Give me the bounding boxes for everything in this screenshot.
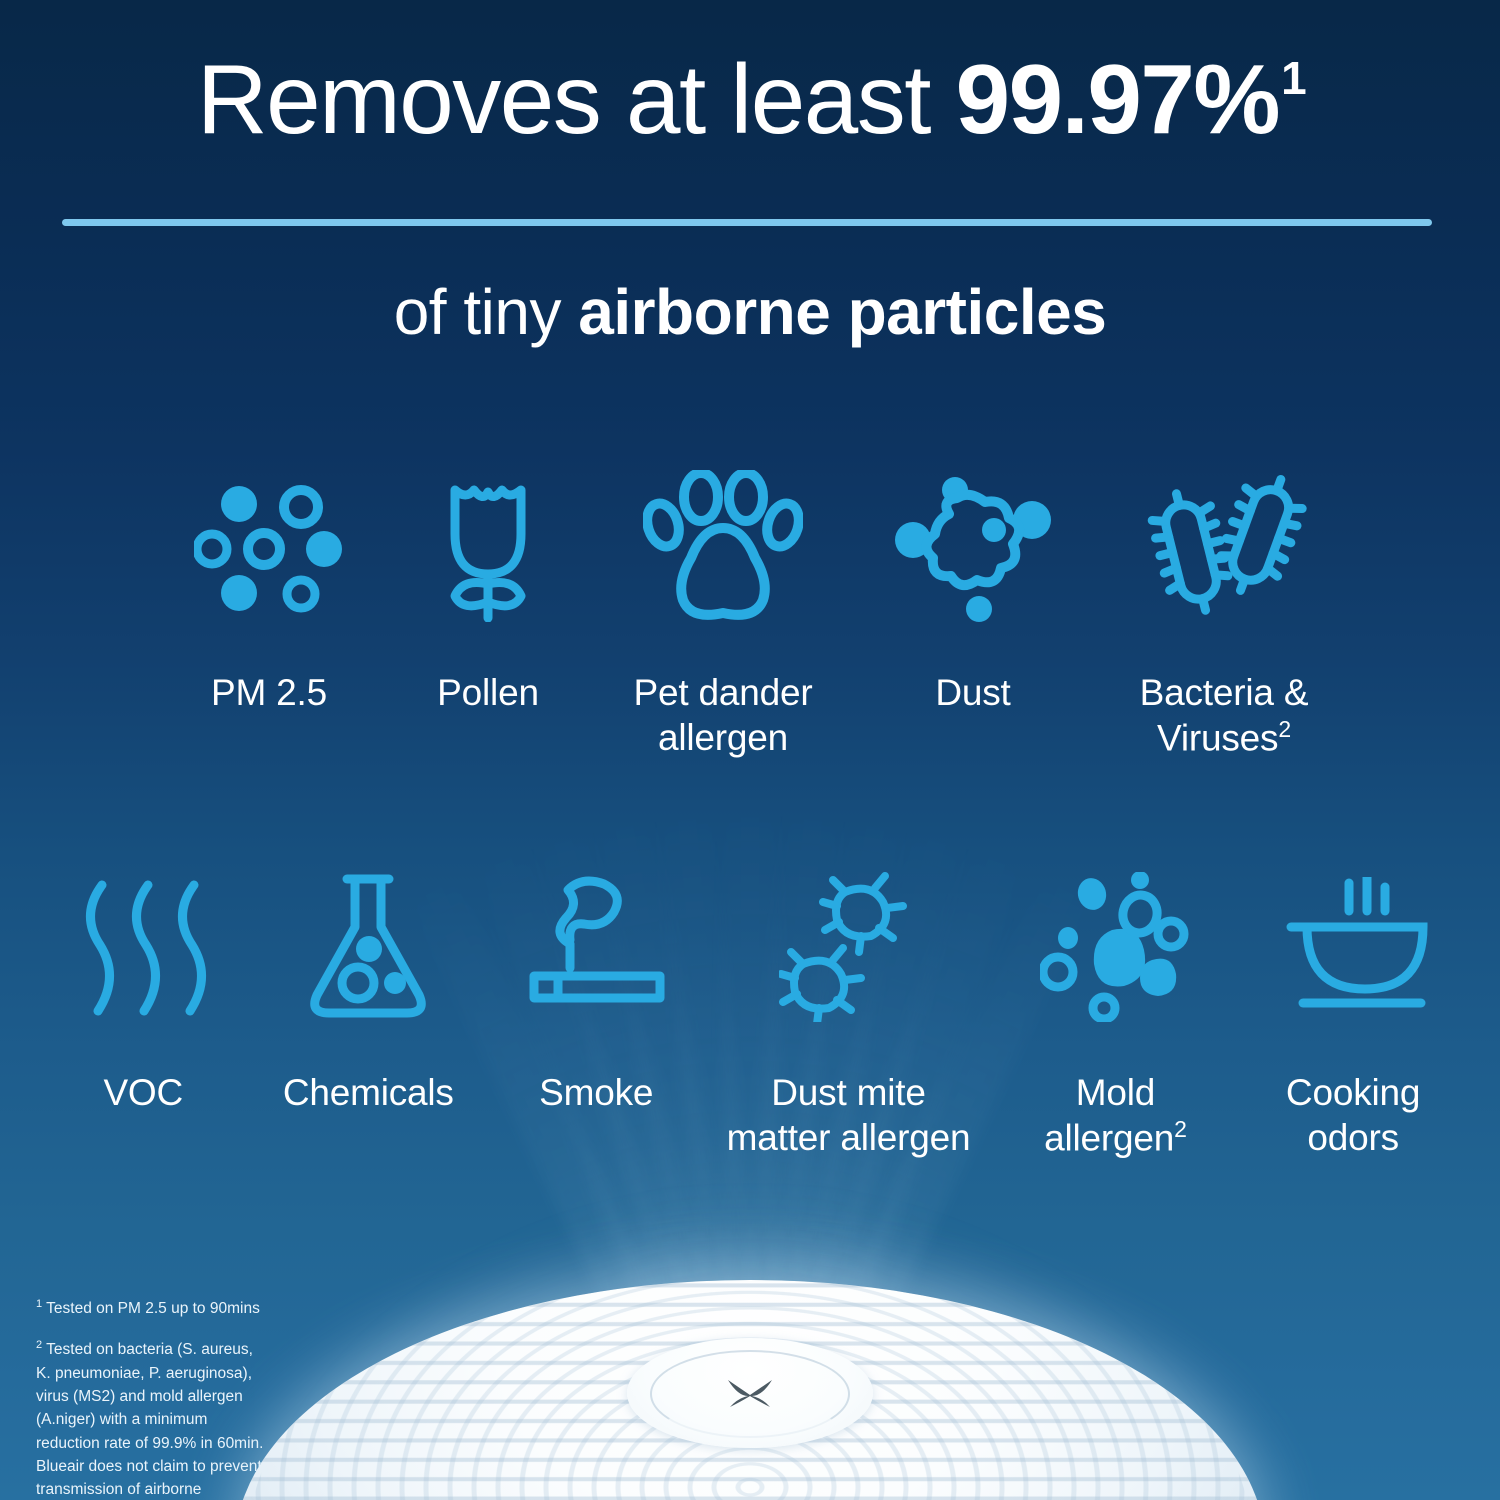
dust-cloud-icon	[893, 462, 1053, 632]
smoke-cigarette-icon	[524, 862, 669, 1032]
page-title: Removes at least 99.97%1	[0, 48, 1500, 152]
footnote-2: 2 Tested on bacteria (S. aureus, K. pneu…	[36, 1337, 264, 1500]
particle-label-text: Mold allergen	[1044, 1072, 1174, 1158]
particle-label: Smoke	[539, 1070, 653, 1115]
pet-dander-paw-icon	[643, 462, 803, 632]
headline-regular: Removes at least	[197, 44, 956, 154]
particle-item-voc: VOC	[40, 862, 247, 1115]
footnote-2-text: Tested on bacteria (S. aureus, K. pneumo…	[36, 1342, 263, 1500]
particle-item-mold-allergen: Mold allergen2	[995, 862, 1237, 1161]
cooking-odors-pan-icon	[1273, 862, 1433, 1032]
headline-superscript: 1	[1281, 52, 1305, 104]
particle-label: Cooking odors	[1286, 1070, 1420, 1160]
particle-label: Chemicals	[283, 1070, 454, 1115]
particle-label: PM 2.5	[211, 670, 327, 715]
footnote-1-text: Tested on PM 2.5 up to 90mins	[42, 1300, 260, 1317]
particle-item-pollen: Pollen	[388, 462, 588, 715]
airborne-particles-row: PM 2.5 Pollen	[150, 462, 1360, 761]
particle-item-pet-dander: Pet dander allergen	[588, 462, 858, 760]
particle-item-chemicals: Chemicals	[247, 862, 491, 1115]
footnotes: 1 Tested on PM 2.5 up to 90mins 2 Tested…	[36, 1296, 264, 1500]
particle-label: Pet dander allergen	[633, 670, 812, 760]
chemicals-flask-icon	[303, 862, 433, 1032]
headline-bold: 99.97%	[956, 44, 1279, 154]
subhead-bold: airborne particles	[578, 276, 1106, 348]
particle-label: Dust	[935, 670, 1010, 715]
particle-item-smoke: Smoke	[490, 862, 702, 1115]
particle-item-pm25: PM 2.5	[150, 462, 388, 715]
particle-label: Bacteria & Viruses2	[1140, 670, 1309, 761]
particle-item-dust-mite: Dust mite matter allergen	[702, 862, 994, 1160]
mold-allergen-icon	[1040, 862, 1190, 1032]
pm25-dots-icon	[194, 462, 344, 632]
footnote-1: 1 Tested on PM 2.5 up to 90mins	[36, 1296, 264, 1320]
purifier-control-dial[interactable]	[627, 1338, 873, 1448]
subhead-regular: of tiny	[394, 276, 579, 348]
bacteria-viruses-icon	[1139, 462, 1309, 632]
page-subtitle: of tiny airborne particles	[0, 277, 1500, 347]
particle-label-superscript: 2	[1278, 716, 1291, 742]
particle-label: Pollen	[437, 670, 539, 715]
particle-label: Dust mite matter allergen	[727, 1070, 971, 1160]
infographic-canvas: Removes at least 99.97%1 of tiny airborn…	[0, 0, 1500, 1500]
divider	[62, 219, 1432, 226]
pollen-tulip-icon	[433, 462, 543, 632]
particle-label-superscript: 2	[1174, 1116, 1187, 1142]
particle-label: Mold allergen2	[1044, 1070, 1187, 1161]
particle-item-dust: Dust	[858, 462, 1088, 715]
air-purifier-top	[235, 1280, 1265, 1500]
particle-item-bacteria-viruses: Bacteria & Viruses2	[1088, 462, 1360, 761]
dust-mite-icon	[779, 862, 919, 1032]
particle-label: VOC	[103, 1070, 183, 1115]
voc-waves-icon	[76, 862, 211, 1032]
particle-item-cooking-odors: Cooking odors	[1236, 862, 1470, 1160]
blueair-logo-mark	[724, 1376, 776, 1410]
gases-odors-row: VOC Chemicals	[40, 862, 1470, 1161]
